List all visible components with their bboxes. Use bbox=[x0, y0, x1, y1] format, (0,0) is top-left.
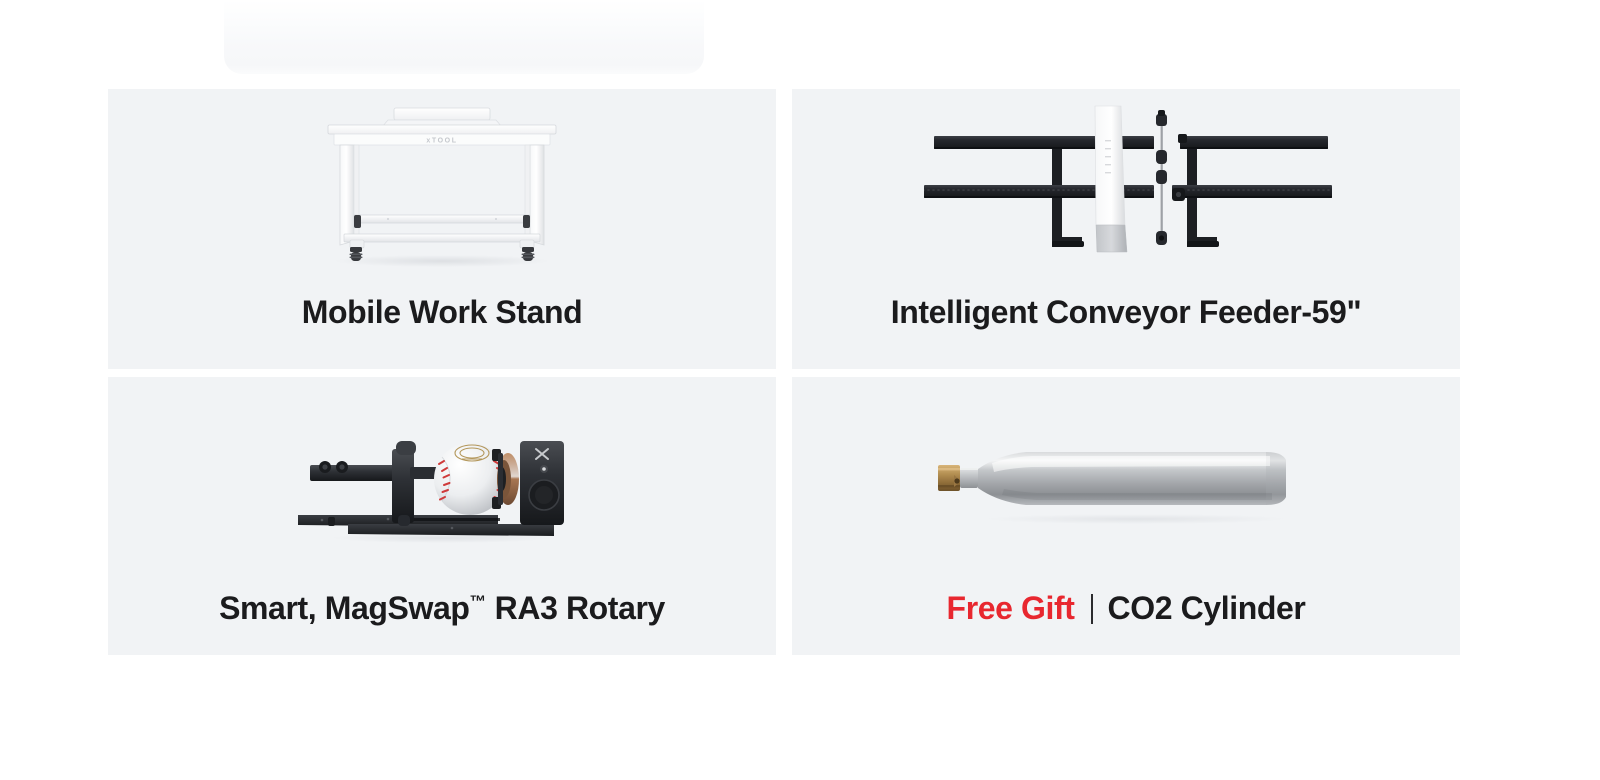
conveyor-feeder-illustration bbox=[916, 100, 1336, 275]
free-gift-badge: Free Gift bbox=[947, 590, 1075, 626]
product-image-co2-cylinder bbox=[792, 377, 1460, 590]
rotary-title-tail: RA3 Rotary bbox=[486, 590, 665, 626]
co2-cylinder-illustration bbox=[936, 435, 1316, 525]
product-image-mobile-work-stand: xTOOL bbox=[108, 89, 776, 294]
cylinder-valve bbox=[938, 465, 961, 491]
product-card-intelligent-conveyor-feeder[interactable]: Intelligent Conveyor Feeder-59" bbox=[792, 89, 1460, 369]
previous-card-remnant bbox=[224, 0, 704, 74]
stand-brand-mark: xTOOL bbox=[426, 138, 457, 145]
product-card-magswap-ra3-rotary[interactable]: Smart, MagSwap™ RA3 Rotary bbox=[108, 377, 776, 655]
product-image-intelligent-conveyor-feeder bbox=[792, 89, 1460, 294]
feeder-cable bbox=[1156, 110, 1167, 245]
rotary-motor-housing bbox=[520, 441, 564, 525]
product-title-co2-cylinder: Free GiftCO2 Cylinder bbox=[792, 590, 1460, 655]
feeder-right-rails bbox=[1172, 134, 1332, 247]
product-title-magswap-ra3-rotary: Smart, MagSwap™ RA3 Rotary bbox=[108, 590, 776, 655]
trademark-symbol: ™ bbox=[470, 592, 487, 611]
accessories-page: xTOOL bbox=[0, 0, 1600, 780]
title-divider bbox=[1091, 594, 1093, 624]
product-image-magswap-ra3-rotary bbox=[108, 377, 776, 590]
product-title-intelligent-conveyor-feeder: Intelligent Conveyor Feeder-59" bbox=[792, 294, 1460, 369]
ra3-rotary-illustration bbox=[292, 419, 592, 544]
product-card-mobile-work-stand[interactable]: xTOOL bbox=[108, 89, 776, 369]
product-card-co2-cylinder[interactable]: Free GiftCO2 Cylinder bbox=[792, 377, 1460, 655]
accessories-grid: xTOOL bbox=[108, 89, 1460, 655]
co2-cylinder-name: CO2 Cylinder bbox=[1108, 590, 1306, 626]
feeder-control-module bbox=[1095, 106, 1127, 252]
product-title-mobile-work-stand: Mobile Work Stand bbox=[108, 294, 776, 369]
mobile-work-stand-illustration: xTOOL bbox=[292, 103, 592, 268]
rotary-title-lead: Smart, MagSwap bbox=[219, 590, 469, 626]
